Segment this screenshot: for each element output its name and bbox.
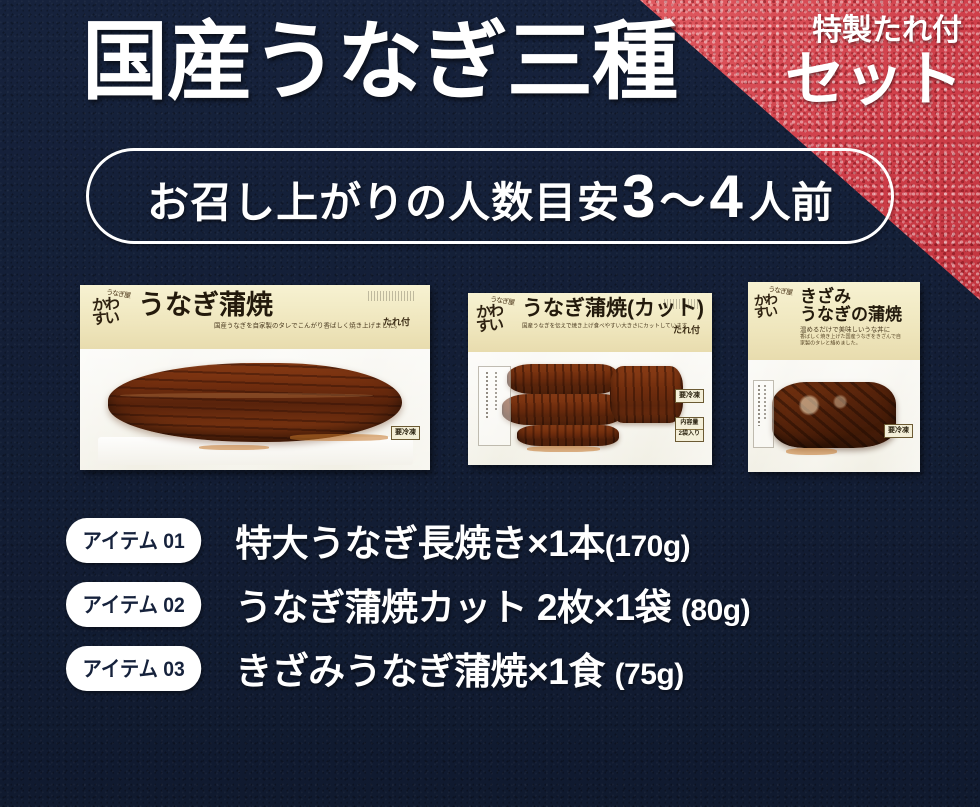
product-1-contents [80,343,430,470]
sauce-drip [527,446,600,452]
product-2-quantity-tag: 内容量 2袋入り [675,417,704,442]
product-2-frozen-tag: 要冷凍 [675,389,704,403]
package-side-print [753,380,774,448]
product-2-qty-value: 2袋入り [679,431,700,437]
item-description-01: 特大うなぎ長焼き×1本(170g) [235,513,690,567]
product-3-label-text: きざみ うなぎの蒲焼 温めるだけで美味しいうな丼に 香ばしく焼き上げた国産うなぎ… [800,288,915,348]
brand-logo-kawasui: うなぎ屋 かわ すい [92,291,130,326]
serving-range-tilde: 〜 [660,165,706,231]
grilled-eel-cut-piece [610,366,683,423]
product-3-label: うなぎ屋 かわ すい きざみ うなぎの蒲焼 温めるだけで美味しいうな丼に 香ばし… [748,282,920,360]
serving-count-from: 3 [622,162,655,231]
product-3-description-sub: 香ばしく焼き上げた国産うなぎをきざんで自家製のタレと絡めました。 [800,334,906,346]
product-3-description-main: 温めるだけで美味しいうな丼に [800,327,890,333]
product-3-description: 温めるだけで美味しいうな丼に 香ばしく焼き上げた国産うなぎをきざんで自家製のタレ… [800,327,906,347]
brand-name-line2: すい [754,306,793,321]
item-weight-01: (170g) [605,530,690,563]
item-badge-02: アイテム 02 [66,582,201,627]
product-1-description: 国産うなぎを自家製のタレでこんがり香ばしく焼き上げました。 [214,323,405,331]
item-name-01: 特大うなぎ長焼き×1本 [235,523,605,564]
list-item: アイテム 02 うなぎ蒲焼カット 2枚×1袋 (80g) [0,579,980,629]
list-item: アイテム 01 特大うなぎ長焼き×1本(170g) [0,515,980,565]
item-name-02: うなぎ蒲焼カット 2枚×1袋 [235,587,671,628]
grilled-eel-whole [108,363,402,442]
corner-main-label: セット [785,50,962,110]
serving-count-to: 4 [710,162,743,231]
product-2-contents [468,347,712,465]
package-side-print [478,366,512,446]
divider [676,429,703,430]
page-title: 国産うなぎ三種 [82,14,677,110]
product-2-description: 国産うなぎを伝えで焼き上げ食べやすい大きさにカットしています [522,324,691,331]
brand-logo-kawasui: うなぎ屋 かわ すい [476,298,514,333]
serving-lead-label: お召し上がりの人数目安 [147,169,620,230]
product-3-title-line1: きざみ [800,288,915,306]
item-badge-03: アイテム 03 [66,646,201,691]
sauce-drip [199,445,269,450]
corner-callout: 特製たれ付 セット [785,16,962,110]
product-3-title-line2: うなぎの蒲焼 [800,306,915,324]
item-description-03: きざみうなぎ蒲焼×1食 (75g) [235,641,684,695]
product-3-frozen-tag: 要冷凍 [884,424,913,438]
item-name-03: きざみうなぎ蒲焼×1食 [235,651,605,692]
sauce-drip [786,448,838,455]
serving-size-badge: お召し上がりの人数目安 3 〜 4 人前 [86,148,894,244]
barcode-icon [368,291,416,301]
brand-logo-kawasui: うなぎ屋 かわ すい [754,288,792,319]
grilled-eel-cut-piece [517,425,619,446]
included-items-list: アイテム 01 特大うなぎ長焼き×1本(170g) アイテム 02 うなぎ蒲焼カ… [0,515,980,707]
sauce-drip [290,434,388,440]
barcode-icon [664,299,698,309]
grilled-eel-cut-piece [507,364,619,395]
brand-name-line2: すい [476,317,515,333]
item-badge-01: アイテム 01 [66,518,201,563]
product-1-frozen-tag: 要冷凍 [391,426,420,440]
product-1-tare-label: たれ付 [383,315,410,328]
product-package-1: うなぎ屋 かわ すい うなぎ蒲焼 国産うなぎを自家製のタレでこんがり香ばしく焼き… [80,285,430,470]
serving-tail-label: 人前 [749,169,833,230]
item-description-02: うなぎ蒲焼カット 2枚×1袋 (80g) [235,577,750,631]
serving-size-text: お召し上がりの人数目安 3 〜 4 人前 [147,162,833,231]
list-item: アイテム 03 きざみうなぎ蒲焼×1食 (75g) [0,643,980,693]
item-weight-03: (75g) [615,658,684,691]
grilled-eel-chopped [772,382,896,448]
item-weight-02: (80g) [681,594,750,627]
product-2-tare-label: たれ付 [673,323,700,336]
product-2-qty-label: 内容量 [680,420,698,426]
brand-name-line2: すい [92,310,131,326]
promo-banner: 国産うなぎ三種 特製たれ付 セット お召し上がりの人数目安 3 〜 4 人前 [0,0,980,807]
product-package-2: うなぎ屋 かわ すい うなぎ蒲焼(カット) 国産うなぎを伝えで焼き上げ食べやすい… [468,293,712,465]
grilled-eel-cut-piece [502,394,624,425]
product-3-contents [748,354,920,472]
corner-sub-label: 特製たれ付 [785,16,962,46]
product-package-3: うなぎ屋 かわ すい きざみ うなぎの蒲焼 温めるだけで美味しいうな丼に 香ばし… [748,282,920,472]
product-photo-row: うなぎ屋 かわ すい うなぎ蒲焼 国産うなぎを自家製のタレでこんがり香ばしく焼き… [0,280,980,480]
